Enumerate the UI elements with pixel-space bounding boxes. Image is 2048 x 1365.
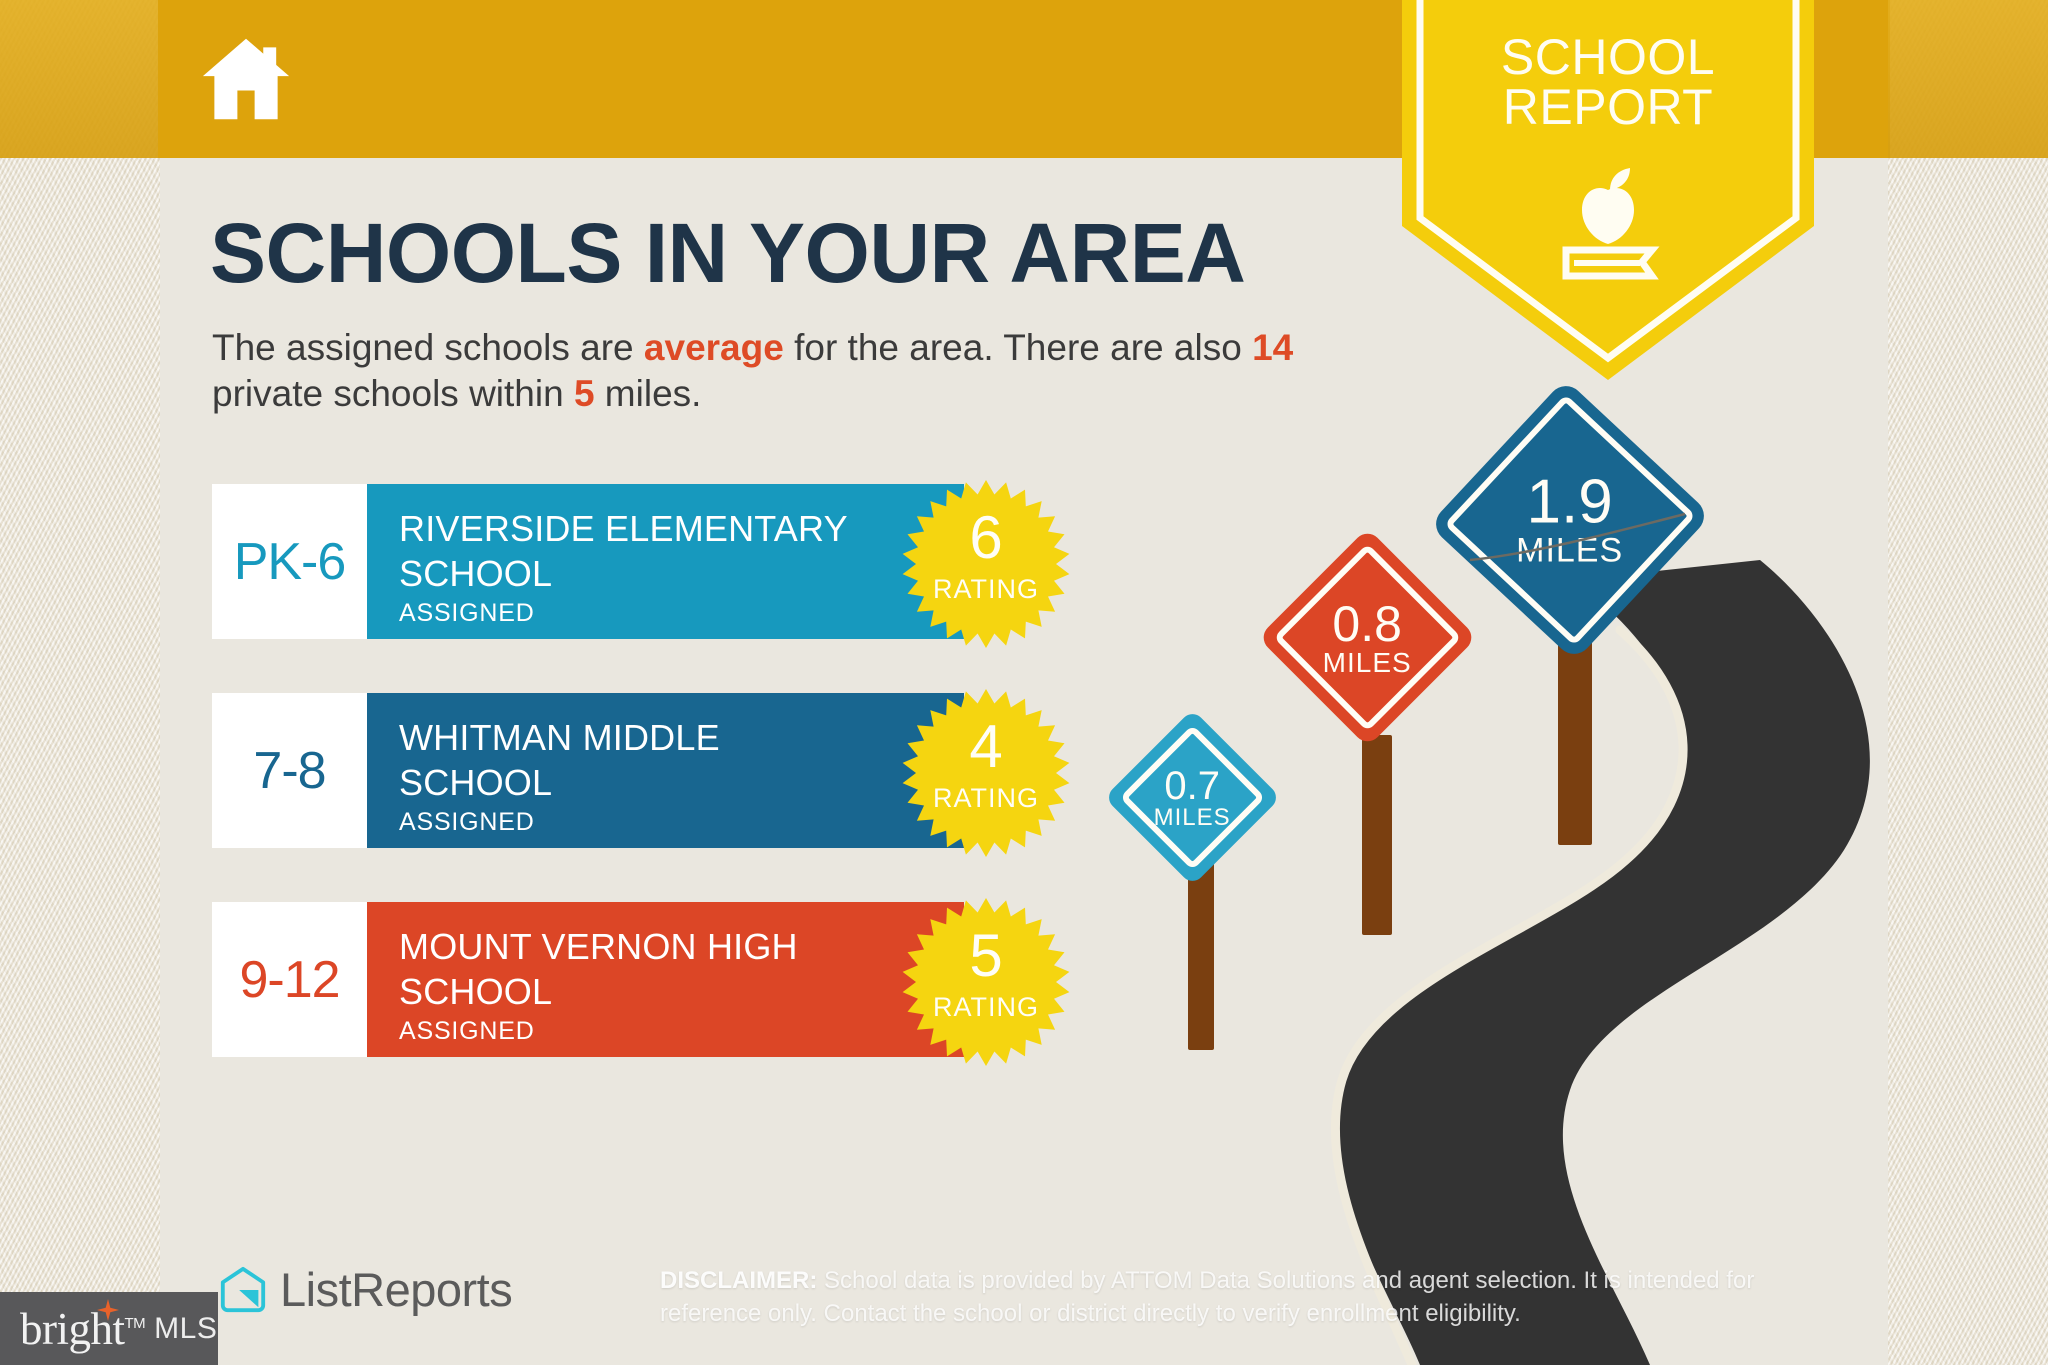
subtitle-highlight-radius: 5	[574, 373, 595, 414]
page-subtitle: The assigned schools are average for the…	[212, 325, 1412, 417]
rating-value: 6	[902, 508, 1070, 568]
grade-range-label: 7-8	[253, 741, 325, 801]
subtitle-part-3: private schools within	[212, 373, 574, 414]
listreports-wordmark: ListReports	[280, 1262, 512, 1317]
apple-on-book-icon	[1548, 162, 1668, 290]
mls-brand-name: brightTM	[20, 1303, 145, 1355]
mls-suffix: MLS	[154, 1312, 217, 1346]
school-info-bar: MOUNT VERNON HIGH SCHOOL ASSIGNED	[367, 902, 964, 1057]
subtitle-part-1: The assigned schools are	[212, 327, 644, 368]
school-status-label: ASSIGNED	[399, 1017, 964, 1046]
sign-post	[1362, 735, 1392, 935]
grade-range-box: 9-12	[212, 902, 367, 1057]
rating-value: 4	[902, 717, 1070, 777]
sign-text: 0.8 MILES	[1323, 599, 1412, 677]
sparkle-icon	[97, 1299, 119, 1321]
school-name-line-1: MOUNT VERNON HIGH	[399, 926, 798, 967]
sign-wire	[1470, 510, 1690, 600]
school-report-badge: SCHOOL REPORT	[1402, 0, 1814, 380]
school-status-label: ASSIGNED	[399, 599, 964, 628]
subtitle-part-2: for the area. There are also	[784, 327, 1252, 368]
school-name-line-1: RIVERSIDE ELEMENTARY	[399, 508, 848, 549]
school-rating-badge: 4 RATING	[902, 689, 1070, 857]
school-status-label: ASSIGNED	[399, 808, 964, 837]
sign-distance-unit: MILES	[1154, 806, 1231, 830]
home-icon	[200, 33, 292, 125]
school-rating-badge: 5 RATING	[902, 898, 1070, 1066]
subtitle-highlight-private-count: 14	[1252, 327, 1293, 368]
texture-strip-left	[0, 0, 160, 1365]
school-report-badge-text: SCHOOL REPORT	[1402, 32, 1814, 132]
rating-value: 5	[902, 926, 1070, 986]
sign-distance-value: 0.8	[1323, 599, 1412, 649]
page-title: SCHOOLS IN YOUR AREA	[210, 210, 1245, 296]
rating-label: RATING	[902, 992, 1070, 1023]
grade-range-label: PK-6	[234, 532, 346, 592]
sign-distance-unit: MILES	[1323, 649, 1412, 677]
disclaimer-text: DISCLAIMER: School data is provided by A…	[660, 1264, 1840, 1330]
rating-label: RATING	[902, 783, 1070, 814]
bright-mls-watermark: brightTM MLS	[0, 1292, 218, 1365]
grade-range-box: PK-6	[212, 484, 367, 639]
school-name-line-2: SCHOOL	[399, 553, 552, 594]
school-info-bar: WHITMAN MIDDLE SCHOOL ASSIGNED	[367, 693, 964, 848]
badge-line-2: REPORT	[1402, 82, 1814, 132]
disclaimer-label: DISCLAIMER:	[660, 1267, 817, 1294]
road-scene: 0.7 MILES 0.8 MILES 1.9 MILES	[1120, 520, 1920, 1365]
listreports-logo[interactable]: ListReports	[218, 1262, 512, 1317]
sign-text: 0.7 MILES	[1154, 766, 1231, 830]
school-name-line-1: WHITMAN MIDDLE	[399, 717, 720, 758]
school-name-line-2: SCHOOL	[399, 762, 552, 803]
property-address: 8385 BROCKHAM DRIVE, ALEXANDRIA, VA 2230…	[320, 56, 1316, 101]
grade-range-label: 9-12	[239, 950, 339, 1010]
school-name-line-2: SCHOOL	[399, 971, 552, 1012]
grade-range-box: 7-8	[212, 693, 367, 848]
school-rating-badge: 6 RATING	[902, 480, 1070, 648]
badge-line-1: SCHOOL	[1501, 29, 1715, 85]
sign-post	[1188, 860, 1214, 1050]
disclaimer-body: School data is provided by ATTOM Data So…	[660, 1267, 1754, 1327]
sign-post	[1558, 630, 1592, 845]
winding-road	[1120, 520, 1920, 1365]
mls-trademark: TM	[125, 1315, 146, 1332]
rating-label: RATING	[902, 574, 1070, 605]
subtitle-part-4: miles.	[595, 373, 702, 414]
sign-distance-value: 0.7	[1154, 766, 1231, 806]
school-info-bar: RIVERSIDE ELEMENTARY SCHOOL ASSIGNED	[367, 484, 964, 639]
subtitle-highlight-average: average	[644, 327, 784, 368]
listreports-house-icon	[218, 1265, 268, 1315]
